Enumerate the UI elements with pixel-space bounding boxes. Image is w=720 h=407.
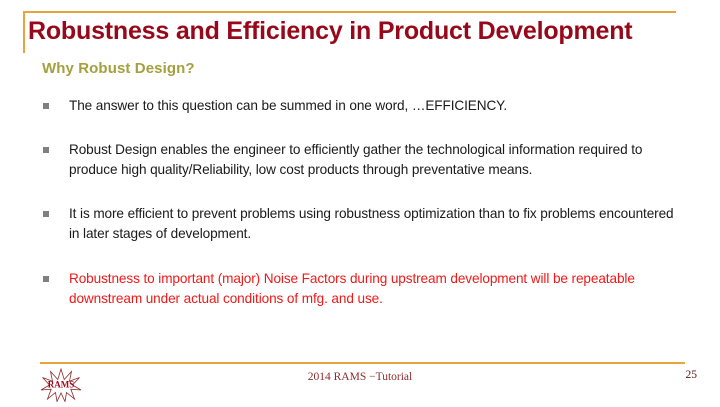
title-top-rule	[23, 11, 676, 13]
slide-subtitle: Why Robust Design?	[42, 60, 195, 77]
bullet-list: The answer to this question can be summe…	[41, 96, 686, 310]
page-number: 25	[686, 369, 698, 381]
square-bullet-icon	[43, 103, 49, 109]
list-item: It is more efficient to prevent problems…	[41, 204, 686, 245]
list-item: The answer to this question can be summe…	[41, 96, 686, 117]
page-title: Robustness and Efficiency in Product Dev…	[28, 16, 720, 46]
slide-canvas: Robustness and Efficiency in Product Dev…	[0, 0, 720, 405]
list-item: Robustness to important (major) Noise Fa…	[41, 269, 686, 310]
list-item-text: Robustness to important (major) Noise Fa…	[69, 269, 686, 310]
square-bullet-icon	[43, 276, 49, 282]
list-item-text: Robust Design enables the engineer to ef…	[69, 140, 686, 181]
slide-footer: RAMS 2014 RAMS −Tutorial 25	[0, 364, 720, 405]
footer-center-text: 2014 RAMS −Tutorial	[0, 371, 720, 383]
title-left-rule	[23, 11, 25, 53]
square-bullet-icon	[43, 211, 49, 217]
list-item: Robust Design enables the engineer to ef…	[41, 140, 686, 181]
square-bullet-icon	[43, 147, 49, 153]
list-item-text: It is more efficient to prevent problems…	[69, 204, 686, 245]
list-item-text: The answer to this question can be summe…	[69, 96, 686, 117]
